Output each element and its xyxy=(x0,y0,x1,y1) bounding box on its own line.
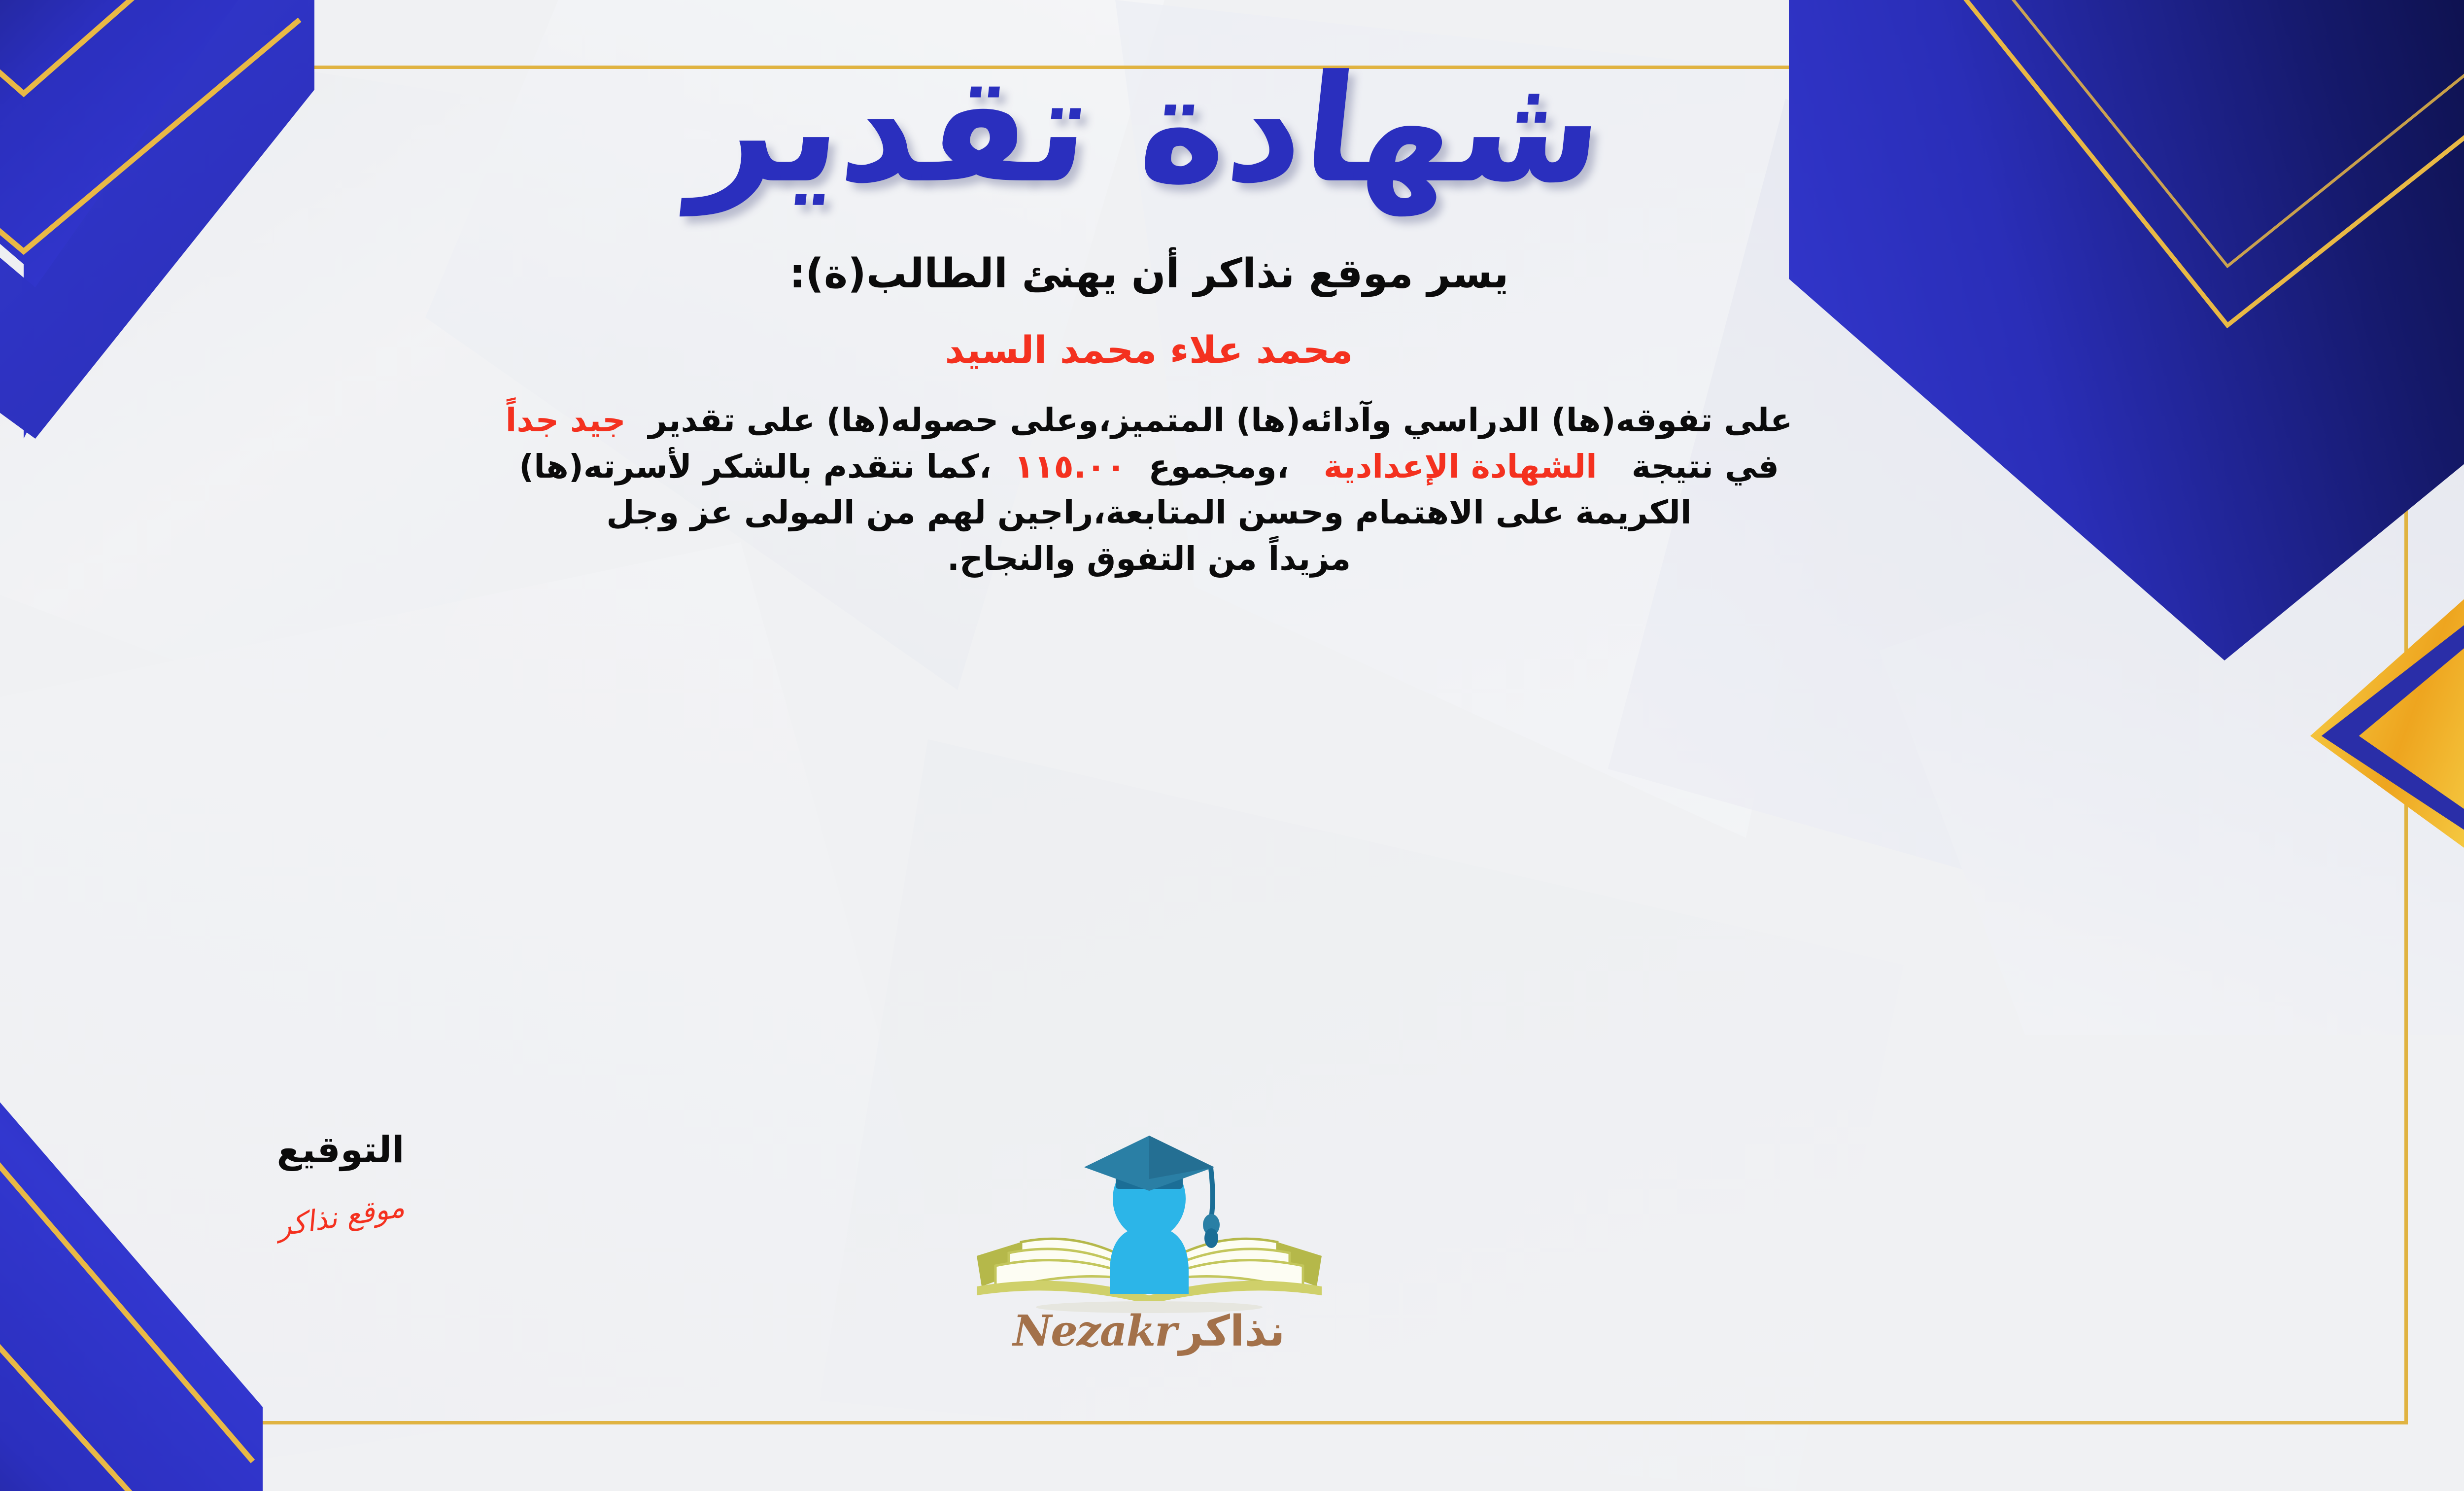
grade-value: جيد جداً xyxy=(506,401,626,439)
body-line-5: الكريمة على الاهتمام وحسن المتابعة،راجين… xyxy=(0,489,2375,536)
certificate-footer: التوقيع موقع نذاكر xyxy=(0,1129,2464,1365)
body-line-4-prefix: في نتيجة xyxy=(1632,448,1779,485)
signature-label: التوقيع xyxy=(203,1129,479,1171)
student-name: محمد علاء محمد السيد xyxy=(945,328,1353,372)
signature-mark: موقع نذاكر xyxy=(274,1190,407,1243)
brand-latin: Nezakr xyxy=(1013,1306,1176,1356)
body-line-4: في نتيجةالشهادة الإعدادية،ومجموع١١٥.٠٠،ك… xyxy=(0,444,2375,490)
intro-line: يسر موقع نذاكر أن يهنئ الطالب(ة): xyxy=(789,250,1509,297)
exam-name: الشهادة الإعدادية xyxy=(1324,448,1597,485)
graduation-book-logo-icon xyxy=(962,1124,1336,1321)
brand-wordmark: Nezakr نذاكر xyxy=(962,1306,1336,1356)
body-line-3-text: على تفوقه(ها) الدراسي وآدائه(ها) المتميز… xyxy=(649,401,1793,439)
body-line-3: على تفوقه(ها) الدراسي وآدائه(ها) المتميز… xyxy=(0,397,2375,444)
brand-logo: Nezakr نذاكر xyxy=(962,1124,1336,1356)
page-title: شهادة تقدير xyxy=(687,52,1611,207)
signature-area: التوقيع موقع نذاكر xyxy=(203,1129,479,1233)
certificate-page: شهادة تقدير يسر موقع نذاكر أن يهنئ الطال… xyxy=(0,0,2464,1491)
certificate-body: على تفوقه(ها) الدراسي وآدائه(ها) المتميز… xyxy=(0,397,2375,582)
body-line-4-mid: ،ومجموع xyxy=(1148,448,1289,485)
brand-arabic: نذاكر xyxy=(1179,1307,1285,1356)
body-line-4-suffix: ،كما نتقدم بالشكر لأسرته(ها) xyxy=(519,448,992,485)
body-line-6: مزيداً من التفوق والنجاح. xyxy=(0,536,2375,582)
total-score: ١١٥.٠٠ xyxy=(1014,448,1126,485)
